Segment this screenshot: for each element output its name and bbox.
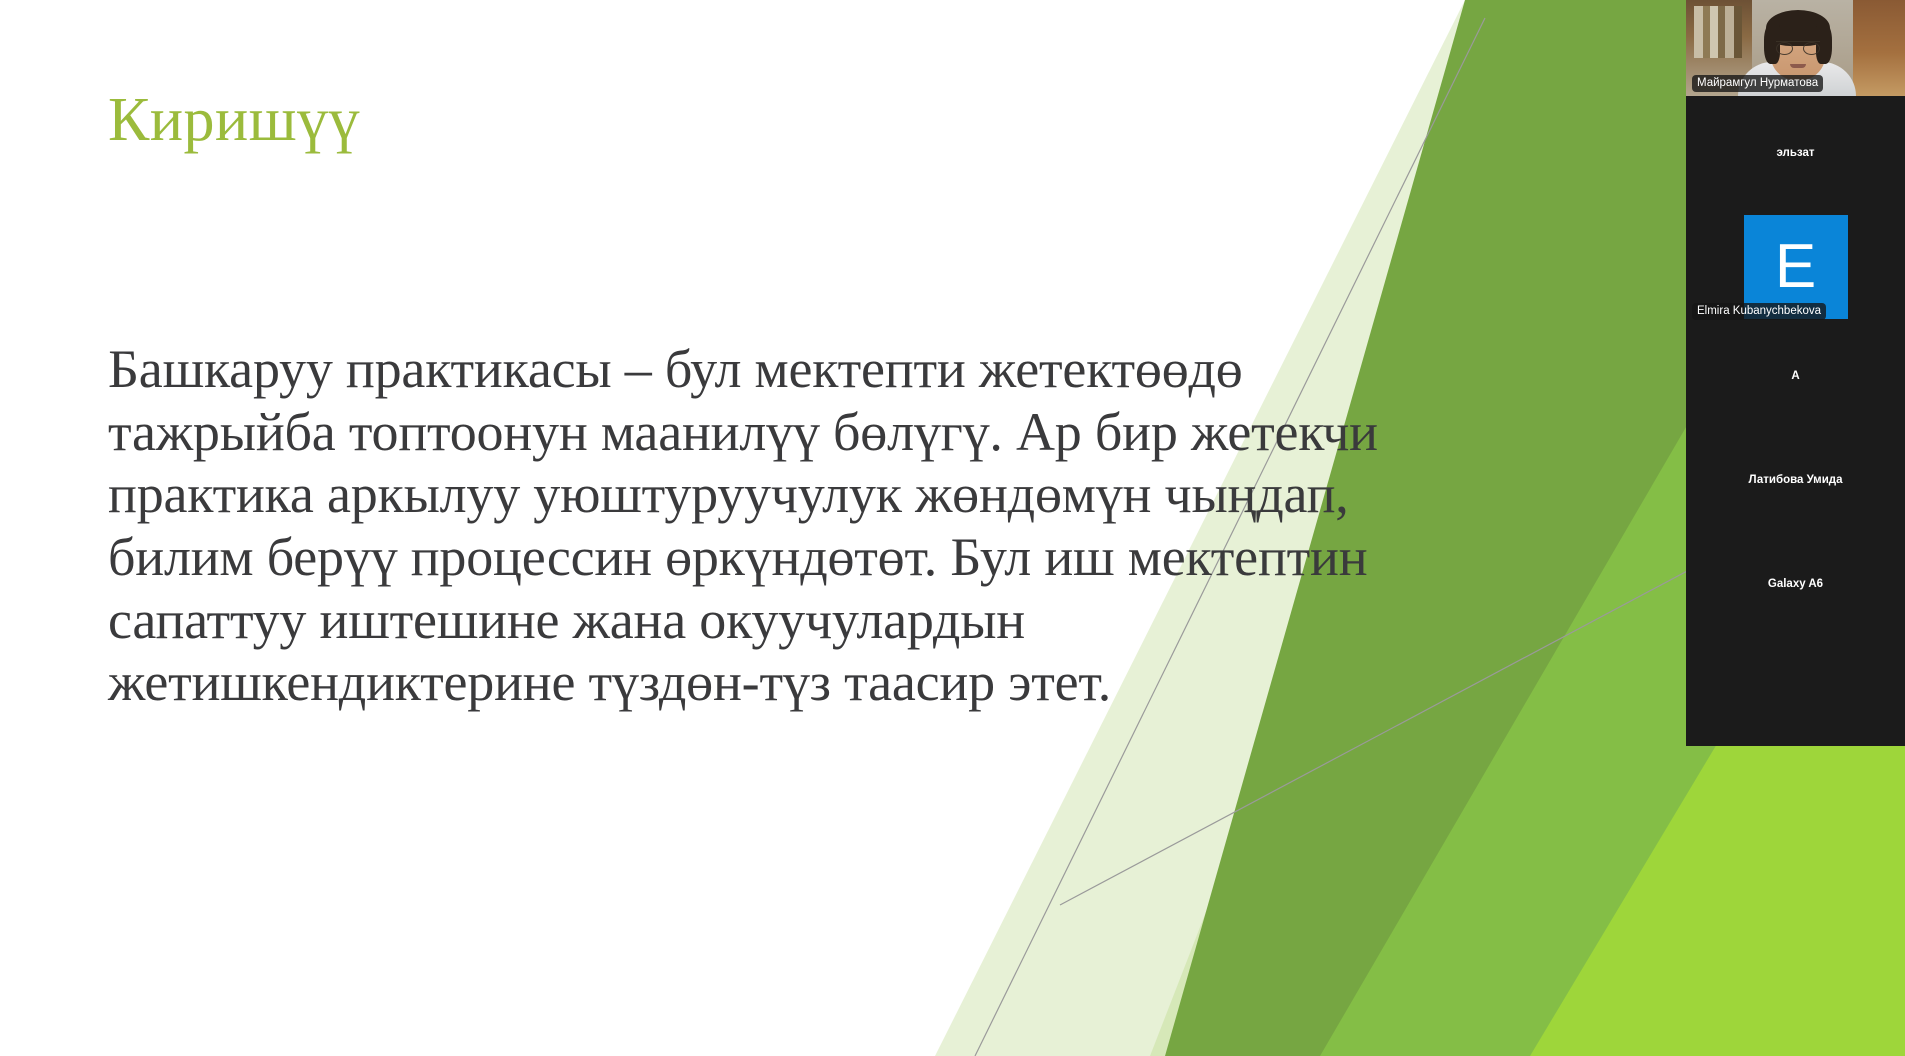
webcam-books [1694,6,1742,58]
participant-tile-video[interactable]: Майрамгул Нурматова [1686,0,1905,96]
participant-name-label: Galaxy A6 [1686,577,1905,591]
webcam-person-mouth [1790,64,1806,68]
webcam-cabinet-right [1853,0,1905,96]
participant-filmstrip[interactable]: Майрамгул Нурматова эльзат E Elmira Kuba… [1686,0,1905,746]
participant-tile-latibova[interactable]: Латибова Умида [1686,428,1905,532]
participant-name-label: Майрамгул Нурматова [1692,75,1823,92]
presentation-slide: Киришүү Башкаруу практикасы – бул мектеп… [0,0,1905,1056]
participant-tile-galaxy[interactable]: Galaxy A6 [1686,532,1905,636]
participant-tile-elzat[interactable]: эльзат [1686,96,1905,210]
webcam-person-glasses [1776,41,1820,54]
participant-name-label: Латибова Умида [1686,473,1905,487]
participant-name-label: эльзат [1686,146,1905,160]
participant-name-label: А [1686,369,1905,383]
slide-body-text: Башкаруу практикасы – бул мектепти жетек… [108,338,1438,714]
participant-tile-elmira[interactable]: E Elmira Kubanychbekova [1686,210,1905,324]
participant-tile-a[interactable]: А [1686,324,1905,428]
screen-root: Киришүү Башкаруу практикасы – бул мектеп… [0,0,1905,1056]
slide-title: Киришүү [108,88,360,153]
avatar-initial: E [1775,236,1816,298]
participant-filmstrip-empty-space [1686,636,1905,746]
participant-name-label: Elmira Kubanychbekova [1692,303,1826,320]
